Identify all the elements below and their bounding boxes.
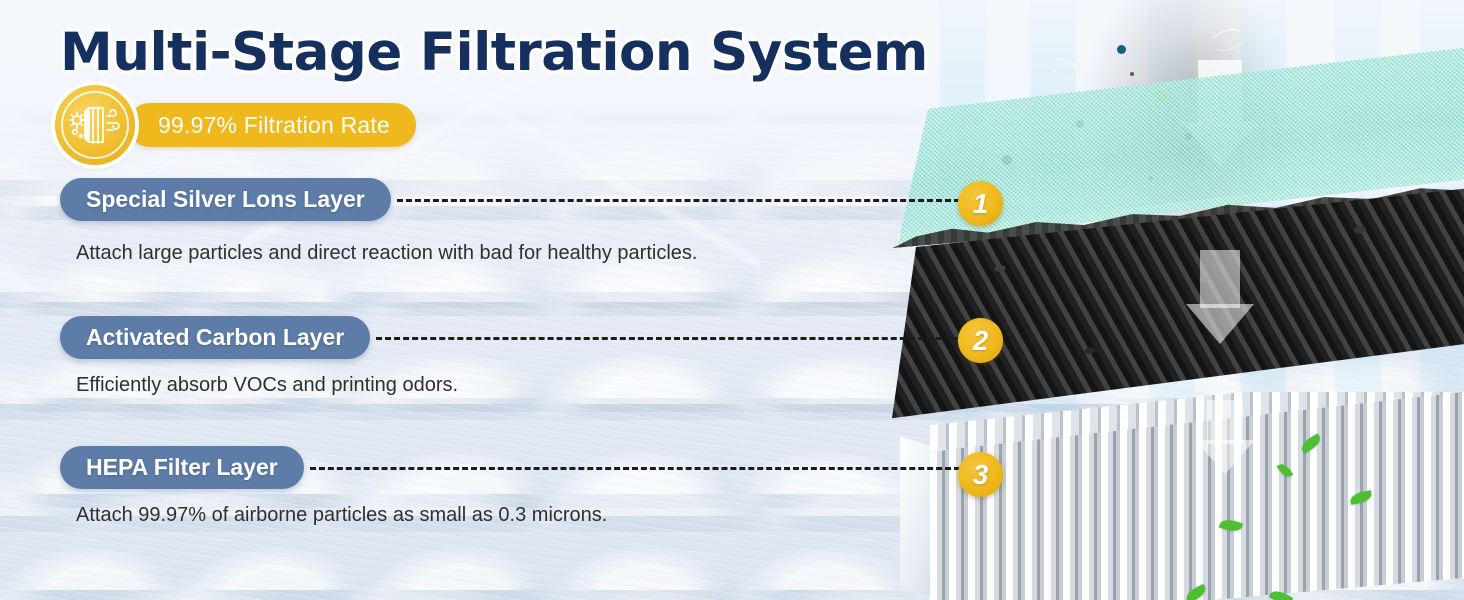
- layer-label-pill-1[interactable]: Special Silver Lons Layer: [60, 178, 391, 221]
- filtration-rate-label: 99.97% Filtration Rate: [158, 112, 390, 139]
- filter-cutaway-illustration: [880, 0, 1464, 600]
- filter-layers-icon-ring: [61, 91, 129, 159]
- filtration-rate-badge: 99.97% Filtration Rate: [128, 103, 416, 147]
- layer-marker-1[interactable]: 1: [958, 181, 1003, 226]
- layer-description-1: Attach large particles and direct reacti…: [76, 242, 697, 265]
- layer-row-1: Special Silver Lons Layer: [60, 178, 880, 221]
- layer-marker-number-3: 3: [973, 461, 989, 489]
- layer-description-3: Attach 99.97% of airborne particles as s…: [76, 504, 607, 527]
- layer-row-3: HEPA Filter Layer: [60, 446, 880, 489]
- filter-layers-icon: [55, 85, 135, 165]
- layer-marker-number-1: 1: [973, 190, 989, 218]
- dust-speck: [1130, 72, 1134, 76]
- layer-label-3: HEPA Filter Layer: [86, 454, 278, 481]
- leader-line-2: [376, 337, 960, 340]
- leader-line-1: [397, 199, 960, 202]
- layer-label-1: Special Silver Lons Layer: [86, 186, 365, 213]
- layer-label-2: Activated Carbon Layer: [86, 324, 344, 351]
- infographic-canvas: Multi-Stage Filtration System 99.97% Fil…: [0, 0, 1464, 600]
- layer-marker-2[interactable]: 2: [958, 318, 1003, 363]
- dust-particle: [1117, 45, 1126, 54]
- layer-row-2: Activated Carbon Layer: [60, 316, 880, 359]
- leader-line-3: [310, 467, 960, 470]
- layer-marker-3[interactable]: 3: [958, 452, 1003, 497]
- page-title: Multi-Stage Filtration System: [60, 22, 928, 83]
- layer-label-pill-3[interactable]: HEPA Filter Layer: [60, 446, 304, 489]
- layer-label-pill-2[interactable]: Activated Carbon Layer: [60, 316, 370, 359]
- filter-layers-glyph: [69, 102, 121, 148]
- layer-description-2: Efficiently absorb VOCs and printing odo…: [76, 374, 458, 397]
- layer-marker-number-2: 2: [973, 327, 989, 355]
